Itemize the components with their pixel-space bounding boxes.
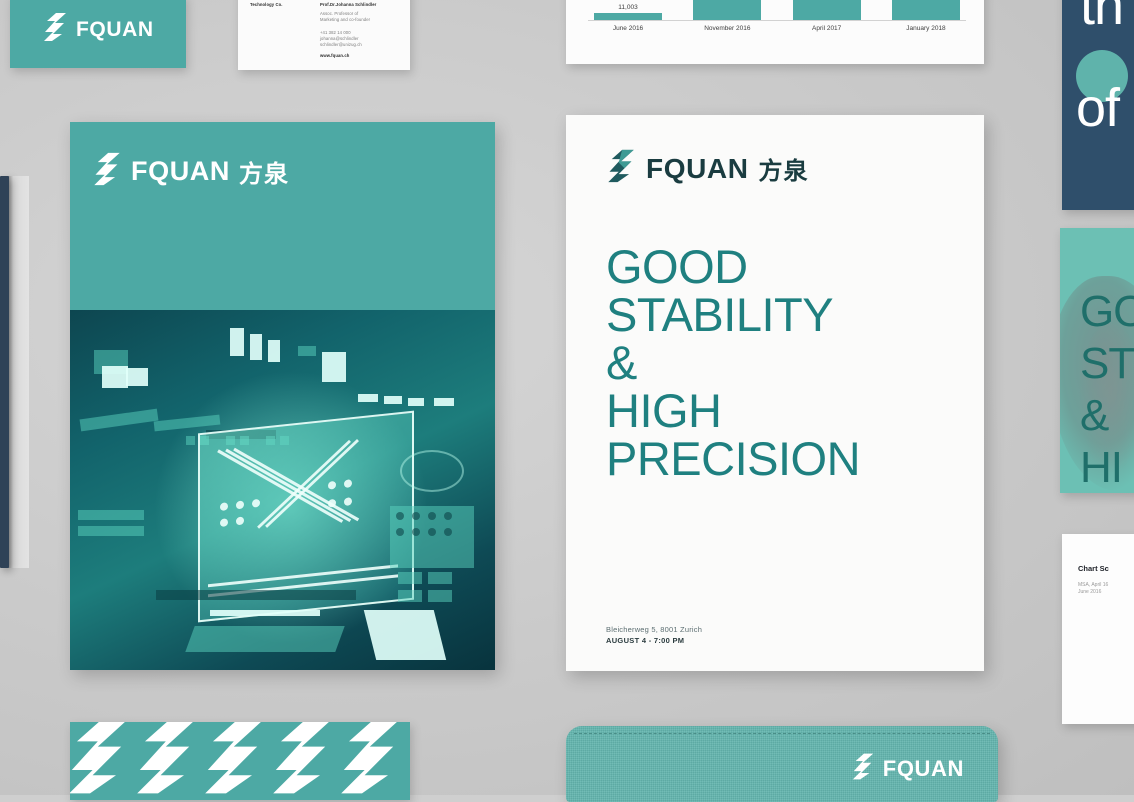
business-card-website: www.fquan.ch (320, 53, 400, 59)
poster-footer: Bleicherweg 5, 8001 Zurich AUGUST 4 - 7:… (606, 625, 702, 645)
left-edge-navy-panel (0, 176, 9, 568)
fquan-arrow-mark-icon (606, 148, 636, 189)
navy-poster-line-1: th (1080, 0, 1123, 32)
poster-headline-line-3: & (606, 339, 960, 387)
chart-document-subtitle-1: MSA, April 16 (1078, 582, 1108, 589)
business-card-heading-col: Technology Co. (250, 2, 312, 8)
bar-chart-plot-area: 11,00334,000 (588, 0, 966, 21)
bar-chart: 11,00334,000 June 2016November 2016April… (588, 0, 966, 40)
card-logo-lockup: FQUAN (42, 12, 154, 47)
bar-group: 11,003 (594, 0, 662, 20)
poster-headline-line-4: HIGH (606, 387, 960, 435)
bar-group: 34,000 (693, 0, 761, 20)
bar (793, 0, 861, 20)
bar-value-label: 11,003 (618, 4, 637, 11)
poster-datetime: AUGUST 4 - 7:00 PM (606, 636, 702, 645)
poster-headline-line-2: STABILITY (606, 291, 960, 339)
teal-poster-headline-line-3: & (1080, 390, 1134, 442)
left-edge-white-panel (7, 176, 29, 568)
navy-poster-line-2: of (1076, 82, 1119, 134)
teal-poster-headline-line-4: HI (1080, 442, 1134, 493)
bar-chart-x-axis: June 2016November 2016April 2017January … (588, 25, 966, 32)
bag-wordmark: FQUAN (883, 756, 964, 782)
brochure-cover: FQUAN 方泉 (70, 122, 495, 670)
poster-logo-lockup: FQUAN 方泉 (606, 148, 809, 189)
poster-wordmark: FQUAN (646, 153, 749, 185)
business-card-contact-3: schlindler@unizug.ch (320, 42, 400, 48)
chart-document-title: Chart Sc (1078, 564, 1109, 573)
business-card-details-col: Prof.Dr.Johanna Schlindler Assoc. Profes… (320, 2, 400, 59)
teal-poster-headline-line-1: GO (1080, 286, 1134, 338)
teal-poster-headline-line-2: ST (1080, 338, 1134, 390)
teal-logo-card: FQUAN (10, 0, 186, 68)
bar-group (793, 0, 861, 20)
fquan-arrow-mark-icon (92, 151, 122, 192)
fquan-logo-repeat-pattern (70, 722, 410, 800)
circuit-board-photo (70, 310, 495, 670)
navy-poster: th of (1062, 0, 1134, 210)
business-card: Technology Co. Prof.Dr.Johanna Schlindle… (238, 0, 410, 70)
business-card-person-name: Prof.Dr.Johanna Schlindler (320, 2, 400, 8)
poster-headline: GOODSTABILITY&HIGHPRECISION (606, 243, 960, 483)
teal-poster: GOST&HIPR (1060, 228, 1134, 493)
x-axis-tick-label: April 2017 (793, 25, 861, 32)
bar (693, 0, 761, 20)
brochure-wordmark-cn: 方泉 (239, 154, 289, 189)
x-axis-tick-label: June 2016 (594, 25, 662, 32)
chart-document-subtitle-2: June 2016 (1078, 589, 1108, 596)
bag-stitching (574, 733, 990, 734)
chart-card: 11,00334,000 June 2016November 2016April… (566, 0, 984, 64)
x-axis-tick-label: November 2016 (693, 25, 761, 32)
poster-headline-line-1: GOOD (606, 243, 960, 291)
brochure-wordmark: FQUAN (131, 156, 230, 187)
pattern-card (70, 722, 410, 800)
bar (892, 0, 960, 20)
fquan-arrow-mark-icon (42, 12, 68, 47)
fquan-arrow-mark-icon (851, 752, 875, 786)
business-card-heading: Technology Co. (250, 2, 312, 8)
branding-mockup-scene: FQUAN Technology Co. Prof.Dr.Johanna Sch… (0, 0, 1134, 795)
poster-headline-line-5: PRECISION (606, 435, 960, 483)
tote-bag: FQUAN (566, 726, 998, 802)
chart-document-subtitle: MSA, April 16 June 2016 (1078, 582, 1108, 596)
brochure-logo-lockup: FQUAN 方泉 (92, 151, 289, 192)
card-wordmark: FQUAN (76, 18, 154, 42)
bar (594, 13, 662, 20)
bar-group (892, 0, 960, 20)
chart-document: Chart Sc MSA, April 16 June 2016 (1062, 534, 1134, 724)
teal-poster-headline: GOST&HIPR (1080, 286, 1134, 493)
poster-address: Bleicherweg 5, 8001 Zurich (606, 625, 702, 634)
main-poster: FQUAN 方泉 GOODSTABILITY&HIGHPRECISION Ble… (566, 115, 984, 671)
poster-wordmark-cn: 方泉 (759, 151, 809, 186)
x-axis-tick-label: January 2018 (892, 25, 960, 32)
bag-logo-lockup: FQUAN (851, 752, 964, 786)
business-card-title-2: Marketing and co-founder (320, 17, 400, 23)
